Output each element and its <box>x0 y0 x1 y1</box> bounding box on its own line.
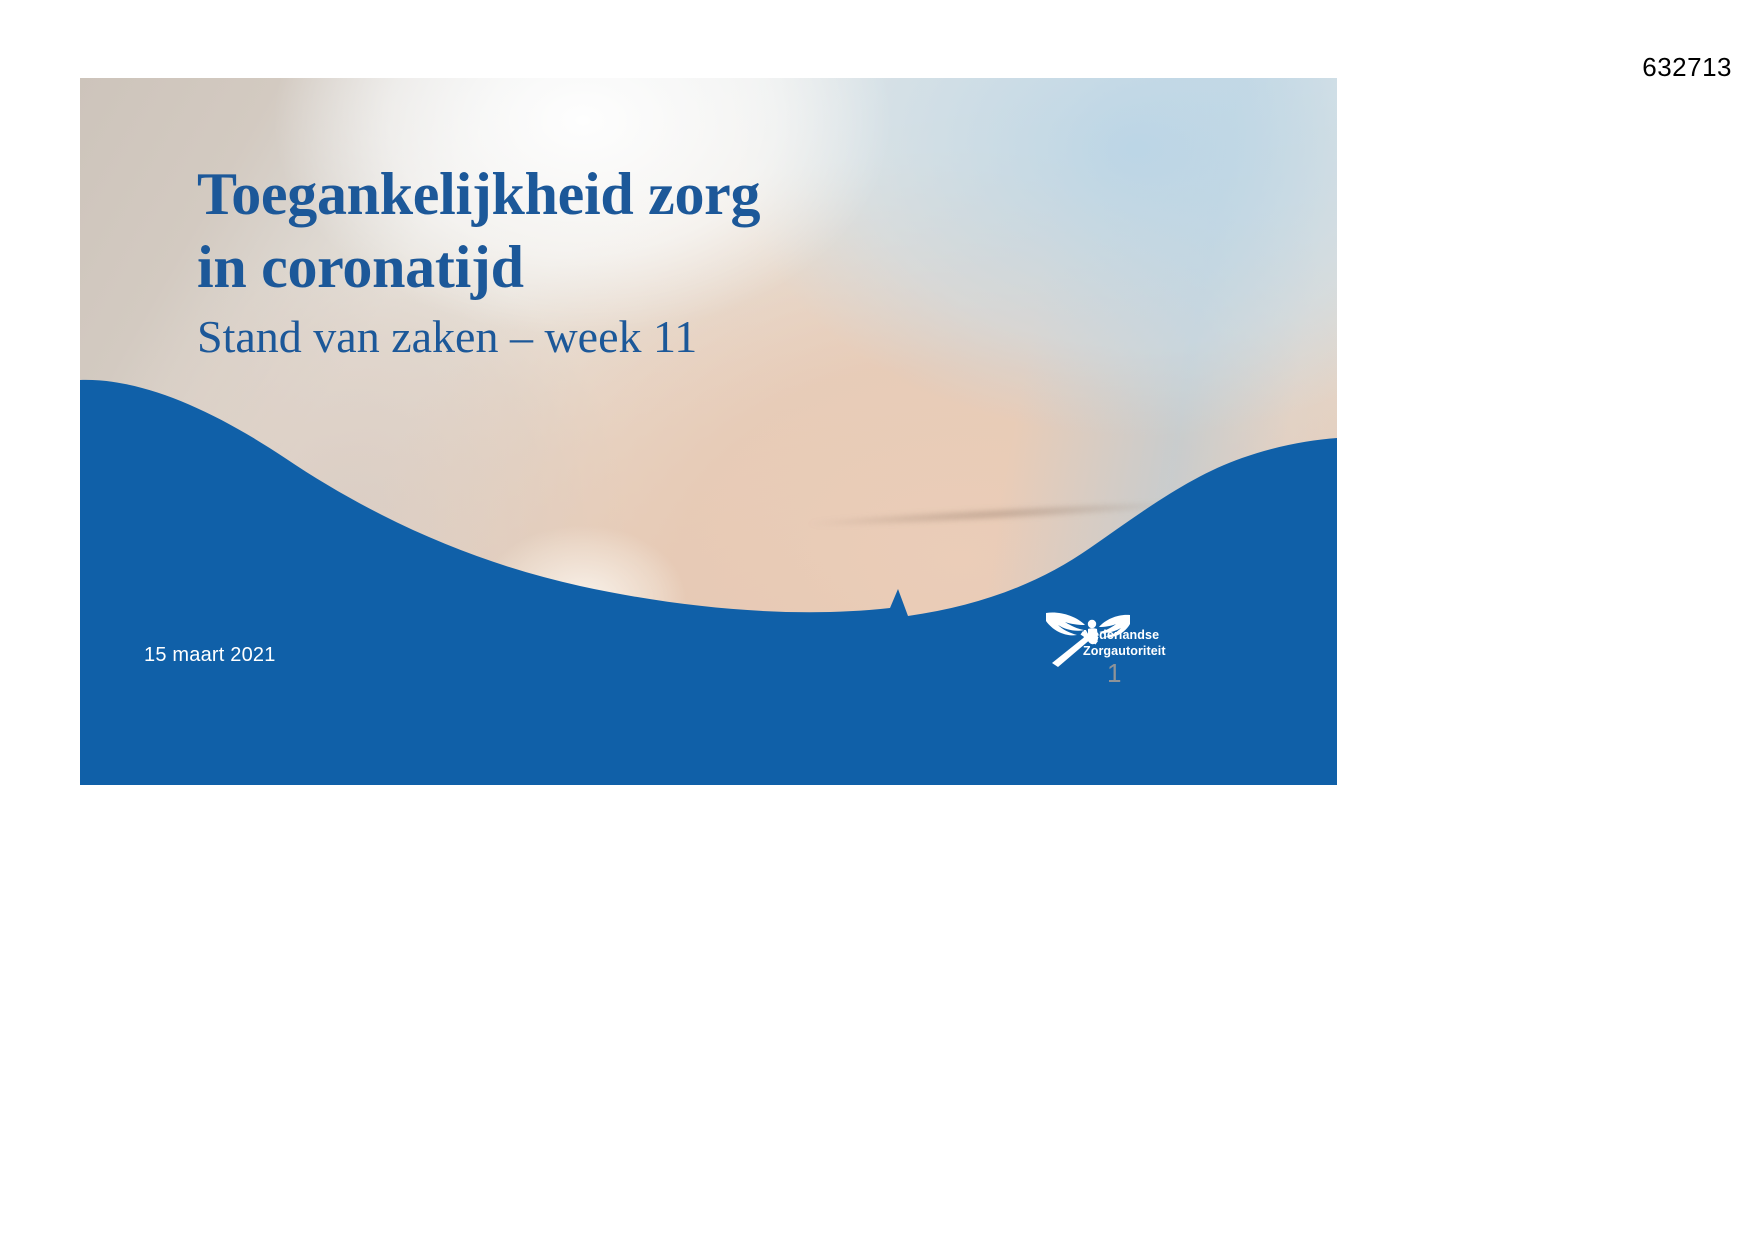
page-subtitle: Stand van zaken – week 11 <box>197 309 977 364</box>
logo-wordmark-line-1: Nederlandse <box>1083 628 1166 644</box>
page-title-line-1: Toegankelijkheid zorg <box>197 161 760 227</box>
page-title-line-2: in coronatijd <box>197 234 524 300</box>
page-number: 1 <box>1107 660 1121 686</box>
title-block: Toegankelijkheid zorgin coronatijd Stand… <box>197 158 977 364</box>
document-id-number: 632713 <box>1642 52 1732 83</box>
slide-date: 15 maart 2021 <box>144 644 276 667</box>
logo-wordmark: Nederlandse Zorgautoriteit <box>1083 628 1166 659</box>
title-slide: Toegankelijkheid zorgin coronatijd Stand… <box>80 78 1337 785</box>
logo-wordmark-line-2: Zorgautoriteit <box>1083 644 1166 660</box>
page-title: Toegankelijkheid zorgin coronatijd <box>197 158 977 303</box>
